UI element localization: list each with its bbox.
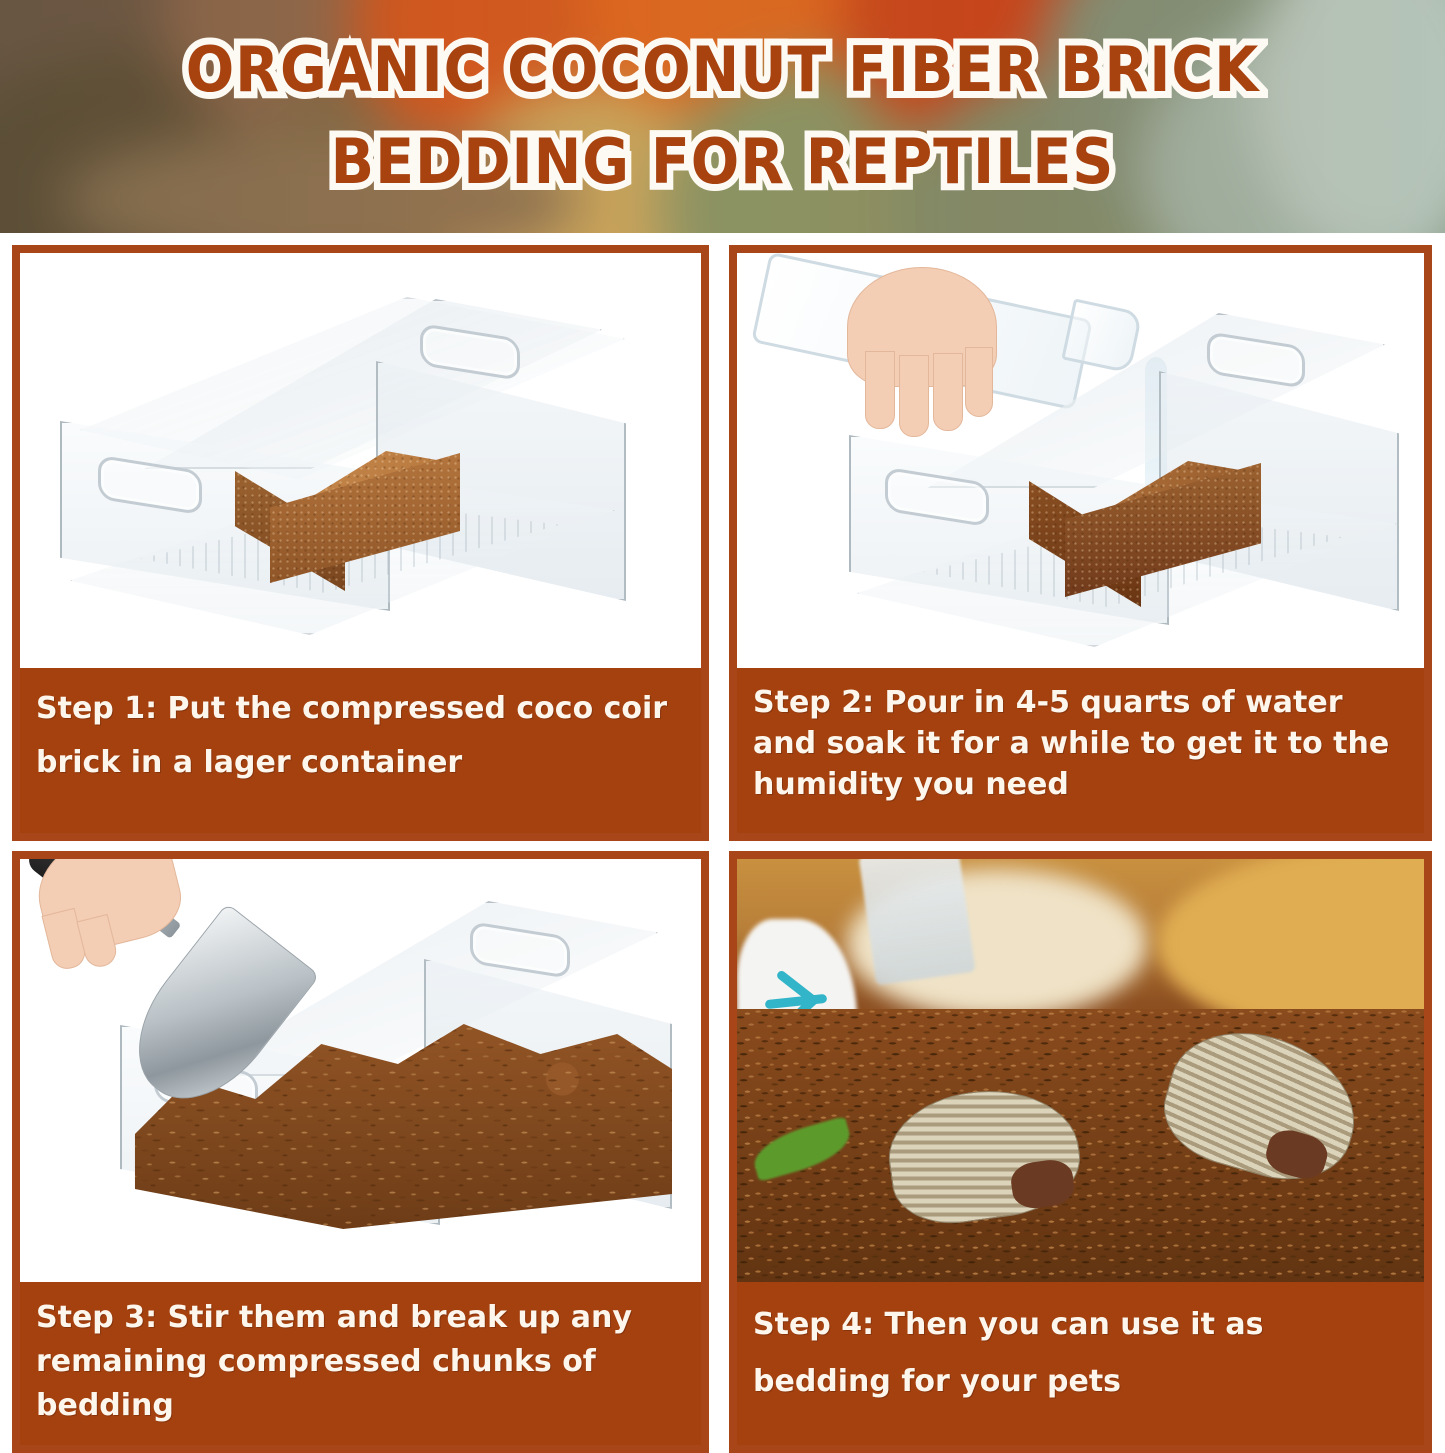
step-1-photo [20,253,701,668]
step-4-caption: Step 4: Then you can use it as bedding f… [737,1282,1424,1445]
step-3-photo [20,859,701,1282]
step-1-panel: Step 1: Put the compressed coco coir bri… [12,245,709,841]
step-4-photo [737,859,1424,1282]
step-2-photo [737,253,1424,668]
step-2-panel: Step 2: Pour in 4-5 quarts of water and … [729,245,1432,841]
page-title: ORGANIC COCONUT FIBER BRICK BEDDING FOR … [58,24,1387,208]
step-3-panel: Step 3: Stir them and break up any remai… [12,851,709,1453]
step-1-cell: Step 1: Put the compressed coco coir bri… [0,233,721,841]
steps-grid: Step 1: Put the compressed coco coir bri… [0,233,1445,1453]
step-2-cell: Step 2: Pour in 4-5 quarts of water and … [721,233,1445,841]
step-3-caption: Step 3: Stir them and break up any remai… [20,1282,701,1445]
header-banner: ORGANIC COCONUT FIBER BRICK BEDDING FOR … [0,0,1445,233]
hermit-crab-left [881,1078,1087,1231]
step-2-caption: Step 2: Pour in 4-5 quarts of water and … [737,668,1424,833]
step-4-panel: Step 4: Then you can use it as bedding f… [729,851,1432,1453]
step-1-caption: Step 1: Put the compressed coco coir bri… [20,668,701,833]
step-4-cell: Step 4: Then you can use it as bedding f… [721,841,1445,1453]
step-3-cell: Step 3: Stir them and break up any remai… [0,841,721,1453]
tube-decor [858,859,975,985]
product-infographic: ORGANIC COCONUT FIBER BRICK BEDDING FOR … [0,0,1445,1453]
terrarium-scene [737,859,1424,1282]
